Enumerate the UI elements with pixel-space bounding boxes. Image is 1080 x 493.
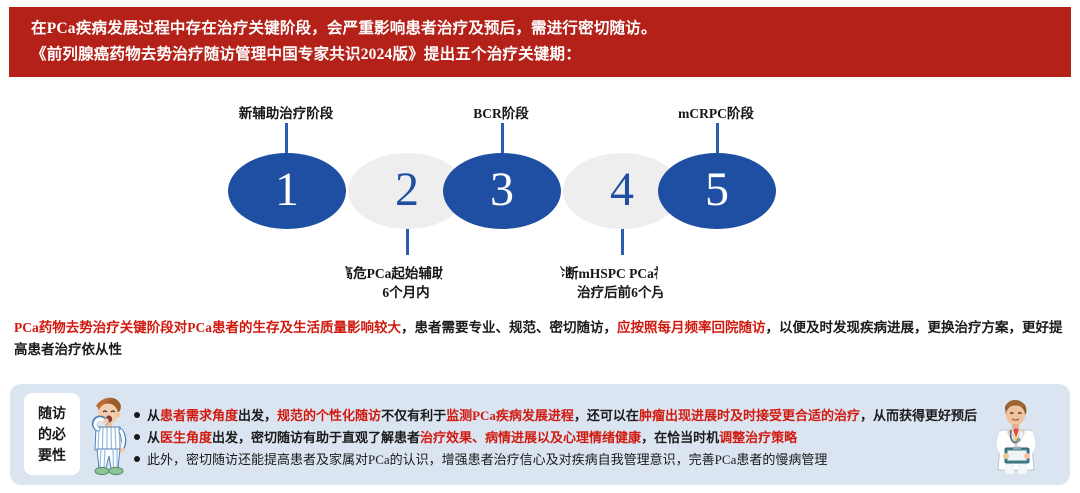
necessity-title-line-2: 的必 xyxy=(38,424,66,445)
highlighted-text: 监测PCa疾病发展进程 xyxy=(446,408,574,423)
body-text: ，从而获得更好预后 xyxy=(860,408,977,423)
body-text: 不仅有利于 xyxy=(381,408,446,423)
necessity-title-line-3: 要性 xyxy=(38,445,66,466)
stage-stem-2 xyxy=(406,227,409,255)
stage-stem-3 xyxy=(501,123,504,155)
highlighted-text: 医生角度 xyxy=(160,430,212,445)
bullet-dot-icon xyxy=(134,412,140,418)
slide-root: 在PCa疾病发展过程中存在治疗关键阶段，会严重影响患者治疗及预后，需进行密切随访… xyxy=(0,0,1080,493)
header-line-1: 在PCa疾病发展过程中存在治疗关键阶段，会严重影响患者治疗及预后，需进行密切随访… xyxy=(31,16,1071,42)
stage-label-3: BCR阶段 xyxy=(461,104,541,123)
necessity-panel: 随访 的必 要性 xyxy=(10,384,1070,485)
necessity-bullet-list: 从患者需求角度出发，规范的个性化随访不仅有利于监测PCa疾病发展进程，还可以在肿… xyxy=(134,405,984,471)
key-message-paragraph: PCa药物去势治疗关键阶段对PCa患者的生存及生活质量影响较大，患者需要专业、规… xyxy=(14,317,1074,361)
stage-stem-5 xyxy=(716,123,719,155)
highlighted-text: 调整治疗策略 xyxy=(719,430,797,445)
stage-ellipse-1[interactable]: 1 xyxy=(228,153,346,229)
body-text: 出发， xyxy=(238,408,277,423)
stage-ellipse-5[interactable]: 5 xyxy=(658,153,776,229)
body-text: ，在恰当时机 xyxy=(641,430,719,445)
ellipse-overlap-mask xyxy=(442,237,562,315)
stage-diagram: 1 2 3 4 5 新辅助治疗阶段 高危PCa起始辅助治疗 6个月内 BCR xyxy=(0,85,1080,315)
list-item: 从患者需求角度出发，规范的个性化随访不仅有利于监测PCa疾病发展进程，还可以在肿… xyxy=(134,405,984,427)
highlighted-text: 规范的个性化随访 xyxy=(277,408,381,423)
stage-stem-1 xyxy=(285,123,288,155)
necessity-title-box: 随访 的必 要性 xyxy=(24,393,80,475)
body-text: 从 xyxy=(147,408,160,423)
list-item: 从医生角度出发，密切随访有助于直观了解患者治疗效果、病情进展以及心理情绪健康，在… xyxy=(134,427,984,449)
bullet-dot-icon xyxy=(134,434,140,440)
stage-number-2: 2 xyxy=(395,166,419,214)
body-text: ，患者需要专业、规范、密切随访， xyxy=(401,320,617,335)
stage-number-3: 3 xyxy=(490,166,514,214)
highlighted-text: PCa药物去势治疗关键阶段对PCa患者的生存及生活质量影响较大 xyxy=(14,320,401,335)
body-text: 从 xyxy=(147,430,160,445)
stage-number-4: 4 xyxy=(610,166,634,214)
ellipse-overlap-mask xyxy=(657,237,777,315)
stage-label-1: 新辅助治疗阶段 xyxy=(231,104,341,123)
stage-ellipse-3[interactable]: 3 xyxy=(443,153,561,229)
body-text: ，还可以在 xyxy=(574,408,639,423)
patient-in-pajamas-icon xyxy=(86,392,132,483)
necessity-title-line-1: 随访 xyxy=(38,403,66,424)
stage-number-5: 5 xyxy=(705,166,729,214)
highlighted-text: 患者需求角度 xyxy=(160,408,238,423)
body-text: 出发，密切随访有助于直观了解患者 xyxy=(212,430,420,445)
highlighted-text: 应按照每月频率回院随访 xyxy=(617,320,766,335)
ellipse-overlap-mask xyxy=(227,237,347,315)
stage-number-1: 1 xyxy=(275,166,299,214)
highlighted-text: 肿瘤出现进展时及时接受更合适的治疗 xyxy=(639,408,860,423)
header-banner: 在PCa疾病发展过程中存在治疗关键阶段，会严重影响患者治疗及预后，需进行密切随访… xyxy=(7,5,1073,79)
stage-label-5: mCRPC阶段 xyxy=(671,104,761,123)
doctor-with-clipboard-icon xyxy=(985,394,1047,481)
header-line-2: 《前列腺癌药物去势治疗随访管理中国专家共识2024版》提出五个治疗关键期： xyxy=(31,42,1071,68)
bullet-dot-icon xyxy=(134,456,140,462)
highlighted-text: 治疗效果、病情进展以及心理情绪健康 xyxy=(420,430,641,445)
stage-stem-4 xyxy=(621,227,624,255)
list-item: 此外，密切随访还能提高患者及家属对PCa的认识，增强患者治疗信心及对疾病自我管理… xyxy=(134,449,984,471)
body-text: 此外，密切随访还能提高患者及家属对PCa的认识，增强患者治疗信心及对疾病自我管理… xyxy=(147,452,827,467)
